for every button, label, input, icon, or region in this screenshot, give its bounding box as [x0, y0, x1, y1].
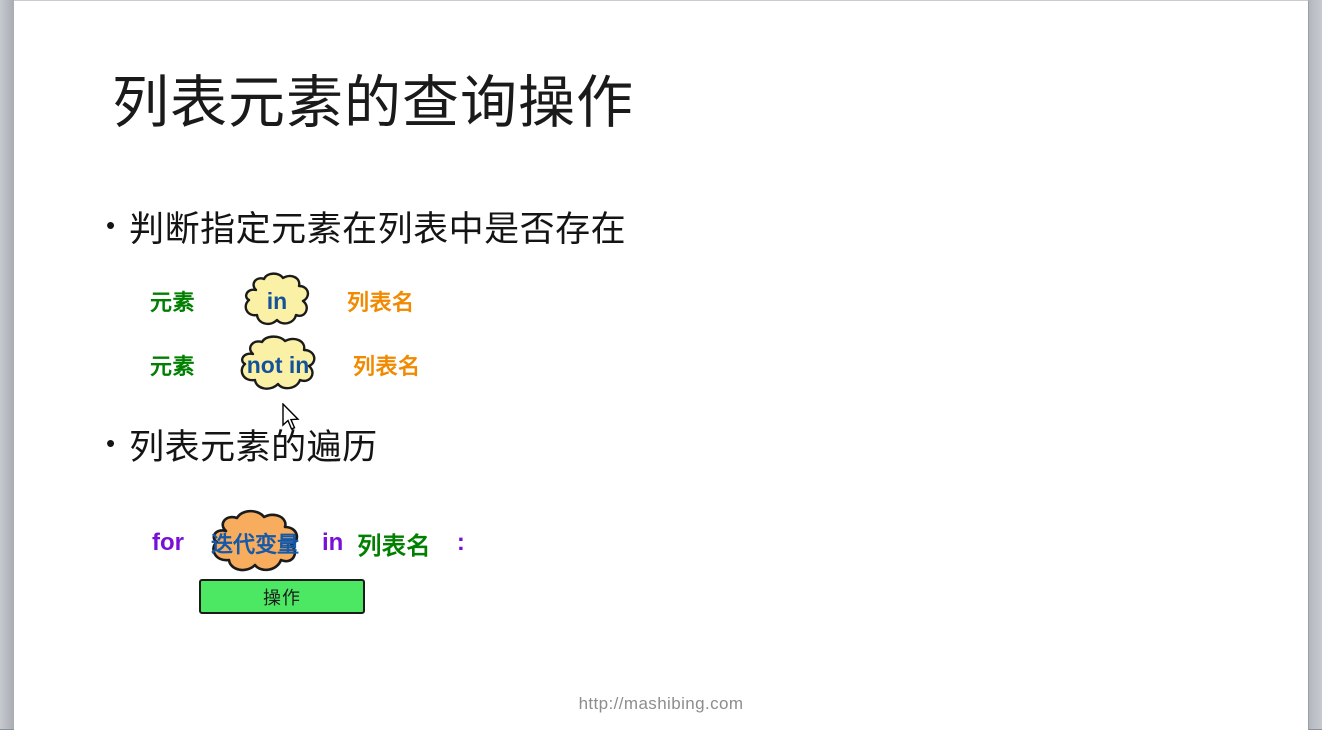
token-listname-for: 列表名 [357, 526, 431, 561]
bullet-item-1: • 判断指定元素在列表中是否存在 [106, 201, 626, 252]
bullet-item-1-label: 判断指定元素在列表中是否存在 [129, 201, 626, 252]
page-title: 列表元素的查询操作 [112, 73, 634, 135]
token-listname-not-in: 列表名 [353, 349, 421, 381]
cloud-label-in: in [267, 288, 287, 315]
token-colon: : [457, 529, 465, 557]
slide-canvas: 列表元素的查询操作 • 判断指定元素在列表中是否存在 元素 in 列表名 元素 [14, 0, 1309, 730]
token-keyword-in: in [322, 529, 343, 557]
operation-box-label: 操作 [263, 584, 301, 610]
token-element-not-in: 元素 [150, 349, 195, 381]
expression-in: 元素 in 列表名 [150, 273, 415, 329]
viewer-right-gutter [1308, 0, 1322, 729]
token-element-in: 元素 [150, 285, 195, 317]
cloud-shape-in: in [241, 273, 313, 329]
bullet-item-2: • 列表元素的遍历 [106, 419, 378, 470]
cloud-shape-not-in: not in [235, 336, 321, 394]
token-listname-in: 列表名 [347, 285, 415, 317]
viewer-left-gutter [0, 0, 14, 729]
cloud-label-not-in: not in [247, 352, 310, 379]
expression-for-loop: for 迭代变量 in 列表名 : [152, 511, 465, 575]
bullet-item-2-label: 列表元素的遍历 [129, 419, 378, 470]
cloud-shape-iteration-variable: 迭代变量 [206, 511, 304, 575]
footer-url: http://mashibing.com [14, 694, 1308, 714]
cloud-label-iteration-variable: 迭代变量 [211, 527, 299, 559]
bullet-marker-icon: • [106, 430, 115, 456]
bullet-marker-icon: • [106, 212, 115, 238]
presentation-viewer: 列表元素的查询操作 • 判断指定元素在列表中是否存在 元素 in 列表名 元素 [0, 0, 1322, 729]
expression-not-in: 元素 not in 列表名 [150, 336, 421, 394]
operation-box: 操作 [199, 579, 365, 614]
token-keyword-for: for [152, 529, 184, 557]
